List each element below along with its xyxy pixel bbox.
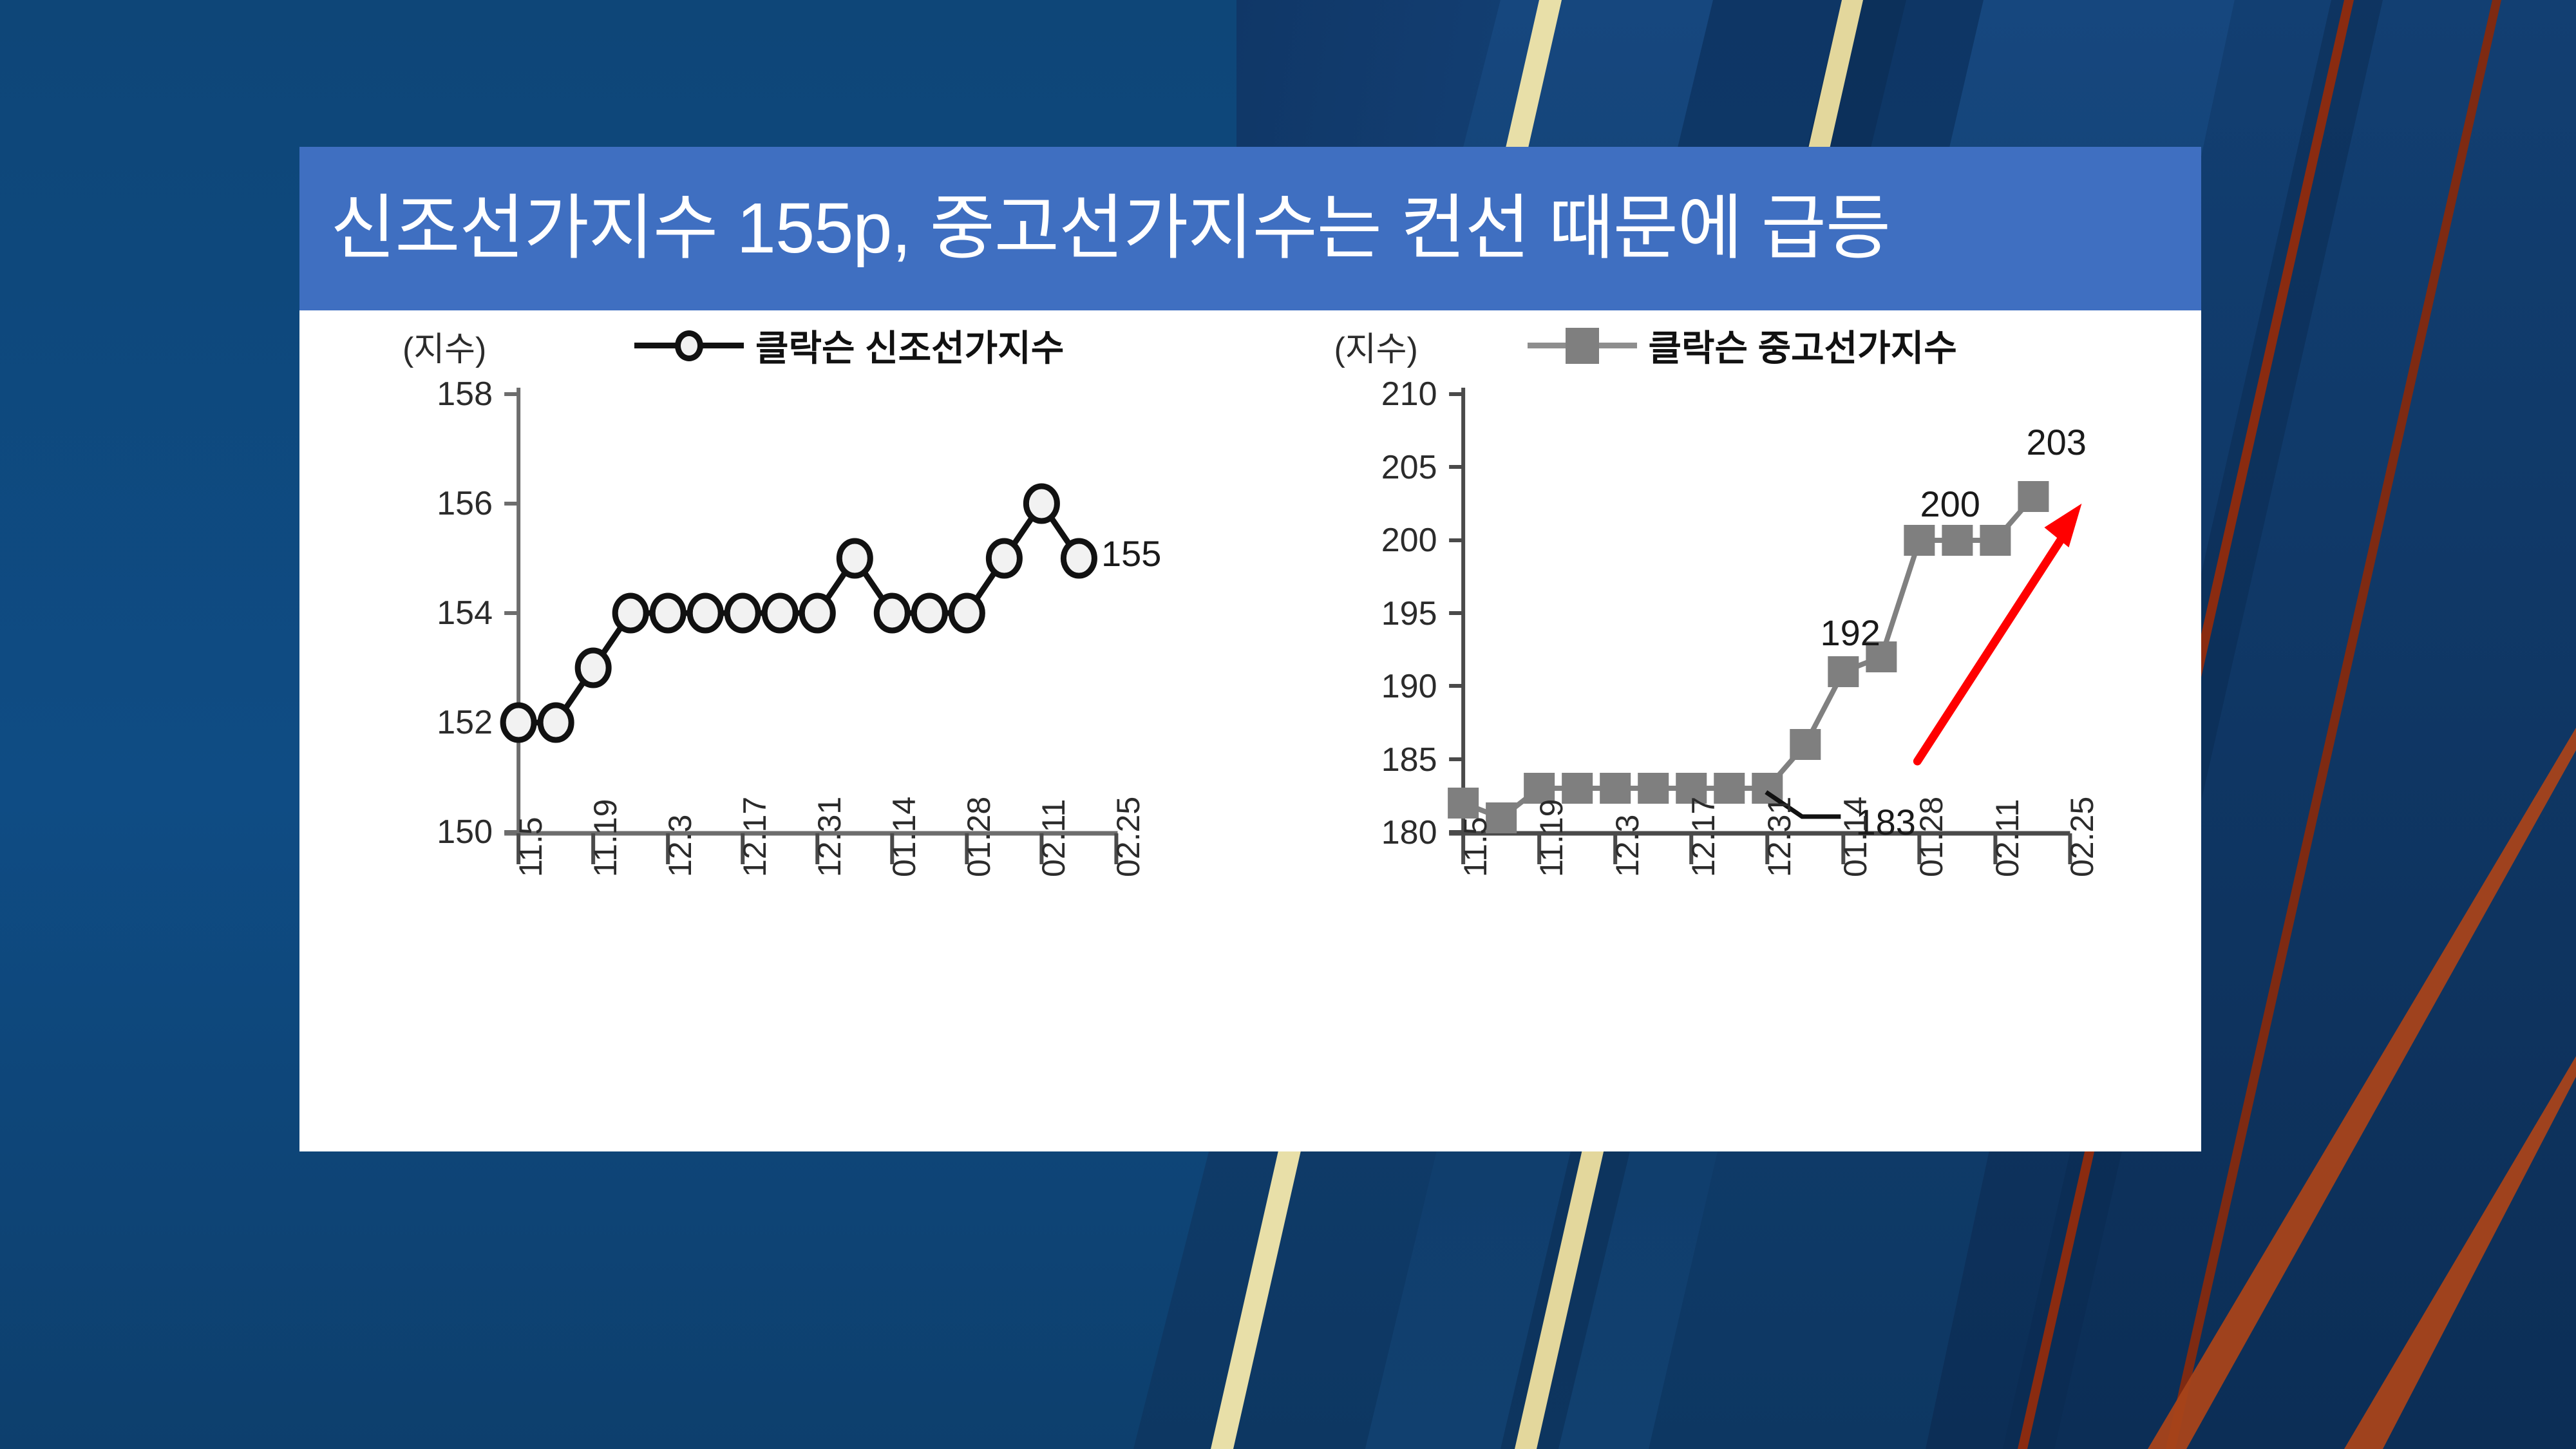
xtick-right-1: 11.19 <box>1533 799 1570 877</box>
xtick-right-6: 01.28 <box>1913 797 1950 877</box>
chart-card: 신조선가지수 155p, 중고선가지수는 컨선 때문에 급등 (지수) 클락슨 … <box>299 147 2201 1151</box>
slide-title-bar: 신조선가지수 155p, 중고선가지수는 컨선 때문에 급등 <box>299 147 2201 310</box>
xtick-right-7: 02.11 <box>1989 799 2026 877</box>
annotation-200: 200 <box>1920 483 1980 525</box>
xtick-right-0: 11.5 <box>1457 817 1494 877</box>
annotation-left-end-value: 155 <box>1101 533 1161 574</box>
annotation-203: 203 <box>2027 421 2087 463</box>
charts-area: (지수) 클락슨 신조선가지수 158 156 154 152 150 <box>299 310 2201 1151</box>
left-plot-area <box>299 310 1251 1151</box>
xtick-right-8: 02.25 <box>2063 797 2101 877</box>
xtick-right-2: 12.3 <box>1609 815 1646 877</box>
xtick-left-3: 12.17 <box>736 797 773 877</box>
xtick-right-5: 01.14 <box>1837 797 1874 877</box>
chart-panel-newbuilding: (지수) 클락슨 신조선가지수 158 156 154 152 150 <box>299 310 1251 1151</box>
chart-panel-secondhand: (지수) 클락슨 중고선가지수 210 205 200 195 190 185 … <box>1251 310 2202 1151</box>
xtick-left-5: 01.14 <box>885 797 923 877</box>
xtick-left-8: 02.25 <box>1110 797 1147 877</box>
xtick-left-1: 11.19 <box>587 799 624 877</box>
xtick-right-4: 12.31 <box>1761 797 1798 877</box>
xtick-left-0: 11.5 <box>512 817 549 877</box>
annotation-192: 192 <box>1821 612 1880 654</box>
xtick-left-7: 02.11 <box>1035 799 1072 877</box>
xtick-left-4: 12.31 <box>811 797 848 877</box>
xtick-left-2: 12.3 <box>661 815 699 877</box>
xtick-left-6: 01.28 <box>960 797 998 877</box>
xtick-right-3: 12.17 <box>1685 797 1722 877</box>
page-title: 신조선가지수 155p, 중고선가지수는 컨선 때문에 급등 <box>330 193 1890 264</box>
